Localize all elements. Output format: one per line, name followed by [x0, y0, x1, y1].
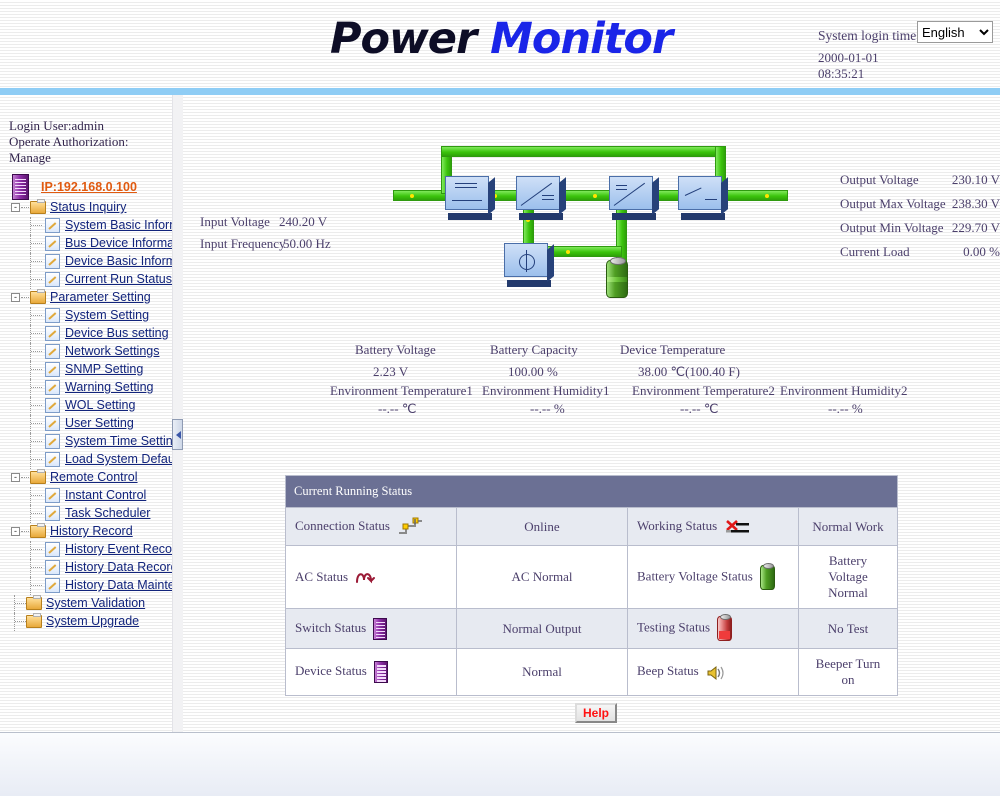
tree-item-label: System Upgrade — [46, 614, 172, 628]
status-left-label: Switch Status — [295, 619, 366, 634]
tree-item-instant-control[interactable]: Instant Control — [0, 487, 172, 505]
output-value-2: 229.70 V — [938, 220, 1000, 236]
bypass-top — [441, 146, 726, 157]
output-label-0: Output Voltage — [840, 172, 919, 188]
environment-label-1: Environment Humidity1 — [482, 383, 609, 399]
page-icon — [45, 542, 60, 557]
tree-item-label: Instant Control — [65, 488, 172, 502]
page-icon — [45, 254, 60, 269]
folder-icon — [30, 471, 46, 484]
output-value-0: 230.10 V — [938, 172, 1000, 188]
tree-item-history-data-record[interactable]: History Data Record — [0, 559, 172, 577]
status-right-label-cell: Beep Status — [628, 649, 799, 696]
tree-connector — [30, 577, 44, 595]
tree-item-label: History Data Record — [65, 560, 172, 574]
environment-value-3: --.-- % — [828, 401, 863, 417]
tree-item-label: SNMP Setting — [65, 362, 172, 376]
tree-item-system-time-setting[interactable]: System Time Setting — [0, 433, 172, 451]
tree-item-system-validation[interactable]: System Validation — [0, 595, 172, 613]
battery-reading-label-1: Battery Capacity — [490, 342, 578, 358]
status-left-label: Device Status — [295, 663, 367, 678]
battery-reading-label-2: Device Temperature — [620, 342, 725, 358]
tree-item-label: WOL Setting — [65, 398, 172, 412]
help-button[interactable]: Help — [575, 703, 617, 723]
table-row: Device StatusNormalBeep StatusBeeper Tur… — [286, 649, 898, 696]
chevron-left-icon — [176, 431, 181, 439]
authorization-label: Operate Authorization: — [9, 134, 129, 150]
page-icon — [45, 380, 60, 395]
tree-item-label: Load System Default — [65, 452, 172, 466]
tree-item-system-setting[interactable]: System Setting — [0, 307, 172, 325]
tree-item-parameter-setting[interactable]: -Parameter Setting — [0, 289, 172, 307]
page-icon — [45, 434, 60, 449]
page-footer — [0, 732, 1000, 796]
output-label-3: Current Load — [840, 244, 910, 260]
status-right-value: No Test — [799, 609, 898, 649]
tree-connector — [30, 397, 44, 415]
tree-connector — [30, 451, 44, 469]
tree-item-label: Status Inquiry — [50, 200, 170, 214]
tree-item-device-basic-information[interactable]: Device Basic Information — [0, 253, 172, 271]
table-row: AC StatusAC NormalBattery Voltage Status… — [286, 546, 898, 609]
tree-item-load-system-default[interactable]: Load System Default — [0, 451, 172, 469]
tree-item-label: Device Bus setting — [65, 326, 172, 340]
tree-connector — [30, 541, 44, 559]
environment-value-0: --.-- ℃ — [378, 401, 416, 417]
table-caption-row: Current Running Status — [286, 476, 898, 508]
tree-connector — [21, 297, 29, 299]
tree-item-task-scheduler[interactable]: Task Scheduler — [0, 505, 172, 523]
status-left-label: Connection Status — [295, 517, 390, 532]
page-title-part2: Monitor — [490, 14, 672, 64]
folder-icon — [30, 201, 46, 214]
tree-item-label: History Record — [50, 524, 170, 538]
sidebar: Login User:admin Operate Authorization: … — [0, 95, 172, 732]
tree-connector — [21, 207, 29, 209]
environment-label-2: Environment Temperature2 — [632, 383, 775, 399]
device-rectifier-icon — [445, 176, 489, 210]
tree-expander-icon[interactable]: - — [11, 527, 20, 536]
folder-icon — [26, 615, 42, 628]
login-date: 2000-01-01 — [818, 50, 879, 66]
output-value-3: 0.00 % — [938, 244, 1000, 260]
tree-item-label: System Setting — [65, 308, 172, 322]
environment-label-0: Environment Temperature1 — [330, 383, 473, 399]
page-icon — [45, 308, 60, 323]
device-switch-icon — [678, 176, 722, 210]
rack-icon — [374, 661, 388, 683]
output-label-2: Output Min Voltage — [840, 220, 944, 236]
power-flow-diagram — [393, 140, 788, 305]
device-converter-icon — [609, 176, 653, 210]
speaker-icon — [706, 665, 726, 681]
tree-item-label: Device Basic Information — [65, 254, 172, 268]
tree-connector — [30, 235, 44, 253]
tree-expander-icon[interactable]: - — [11, 203, 20, 212]
status-right-label: Testing Status — [637, 619, 710, 634]
device-inverter-icon — [516, 176, 560, 210]
device-ip-link[interactable]: IP:192.168.0.100 — [41, 180, 137, 194]
user-info-block: Login User:admin Operate Authorization: … — [0, 118, 129, 166]
status-left-value: Normal Output — [457, 609, 628, 649]
tree-item-label: Bus Device Information — [65, 236, 172, 250]
language-select[interactable]: English — [917, 21, 993, 43]
page-icon — [45, 272, 60, 287]
login-time-label: System login time — [818, 28, 916, 44]
status-left-value: AC Normal — [457, 546, 628, 609]
tree-connector — [30, 415, 44, 433]
folder-icon — [30, 525, 46, 538]
tree-connector — [30, 343, 44, 361]
status-right-label: Battery Voltage Status — [637, 568, 753, 583]
environment-value-2: --.-- ℃ — [680, 401, 718, 417]
table-row: Switch StatusNormal OutputTesting Status… — [286, 609, 898, 649]
sidebar-collapse-button[interactable] — [172, 419, 183, 450]
tree-item-snmp-setting[interactable]: SNMP Setting — [0, 361, 172, 379]
status-right-label: Beep Status — [637, 663, 699, 678]
tree-item-wol-setting[interactable]: WOL Setting — [0, 397, 172, 415]
tree-item-device-bus-setting[interactable]: Device Bus setting — [0, 325, 172, 343]
main-content: Input Voltage 240.20 V Input Frequency 5… — [183, 95, 1000, 732]
tree-item-label: System Basic Information — [65, 218, 172, 232]
input-frequency-value: 50.00 Hz — [283, 236, 331, 252]
battery-reading-value-2: 38.00 ℃(100.40 F) — [638, 364, 740, 380]
table-caption: Current Running Status — [286, 476, 898, 508]
tree-item-user-setting[interactable]: User Setting — [0, 415, 172, 433]
tree-item-label: History Event Record — [65, 542, 172, 556]
output-label-1: Output Max Voltage — [840, 196, 946, 212]
page-icon — [45, 416, 60, 431]
status-right-value: Battery Voltage Normal — [799, 546, 898, 609]
tree-item-system-upgrade[interactable]: System Upgrade — [0, 613, 172, 631]
page-icon — [45, 344, 60, 359]
tree-item-bus-device-information[interactable]: Bus Device Information — [0, 235, 172, 253]
navigation-tree: -Status InquirySystem Basic InformationB… — [0, 199, 172, 631]
tree-item-label: Remote Control — [50, 470, 170, 484]
environment-label-3: Environment Humidity2 — [780, 383, 907, 399]
authorization-value: Manage — [9, 150, 129, 166]
tree-connector — [30, 271, 44, 289]
tree-item-history-record[interactable]: -History Record — [0, 523, 172, 541]
page-icon — [45, 506, 60, 521]
tree-item-network-settings[interactable]: Network Settings — [0, 343, 172, 361]
status-right-label-cell: Battery Voltage Status — [628, 546, 799, 609]
page-icon — [45, 236, 60, 251]
folder-icon — [30, 291, 46, 304]
connection-icon — [397, 517, 423, 537]
tree-expander-icon[interactable]: - — [11, 293, 20, 302]
device-charger-icon — [504, 243, 548, 277]
environment-value-1: --.-- % — [530, 401, 565, 417]
tree-connector — [30, 325, 44, 343]
tree-connector — [21, 477, 29, 479]
input-voltage-label: Input Voltage — [200, 214, 270, 230]
tree-connector — [30, 307, 44, 325]
page-icon — [45, 326, 60, 341]
battery-green-icon — [760, 565, 775, 590]
folder-icon — [26, 597, 42, 610]
status-right-label: Working Status — [637, 518, 717, 533]
tree-connector — [30, 505, 44, 523]
tree-item-label: Parameter Setting — [50, 290, 170, 304]
tree-item-label: System Validation — [46, 596, 172, 610]
tree-item-label: User Setting — [65, 416, 172, 430]
status-left-label: AC Status — [295, 569, 348, 584]
login-clock: 08:35:21 — [818, 66, 864, 82]
status-left-label-cell: Device Status — [286, 649, 457, 696]
tree-item-warning-setting[interactable]: Warning Setting — [0, 379, 172, 397]
table-row: Connection StatusOnlineWorking StatusNor… — [286, 508, 898, 546]
tree-connector — [30, 253, 44, 271]
page-icon — [45, 218, 60, 233]
page-icon — [45, 488, 60, 503]
tree-connector — [21, 531, 29, 533]
working-x-icon — [724, 519, 750, 535]
status-right-label-cell: Testing Status — [628, 609, 799, 649]
login-user-label: Login User:admin — [9, 118, 129, 134]
status-right-label-cell: Working Status — [628, 508, 799, 546]
status-left-label-cell: AC Status — [286, 546, 457, 609]
tree-item-label: System Time Setting — [65, 434, 172, 448]
tree-item-label: Task Scheduler — [65, 506, 172, 520]
status-left-label-cell: Switch Status — [286, 609, 457, 649]
tree-item-label: History Data Maintenance — [65, 578, 172, 592]
tree-item-label: Current Run Status — [65, 272, 172, 286]
battery-reading-value-0: 2.23 V — [373, 364, 408, 380]
page-icon — [45, 398, 60, 413]
tree-item-label: Warning Setting — [65, 380, 172, 394]
tree-item-history-event-record[interactable]: History Event Record — [0, 541, 172, 559]
battery-red-icon — [717, 616, 732, 641]
page-icon — [45, 362, 60, 377]
input-voltage-value: 240.20 V — [279, 214, 327, 230]
page-title-part1: Power — [330, 14, 476, 64]
page-icon — [45, 560, 60, 575]
tree-expander-icon[interactable]: - — [11, 473, 20, 482]
page-title: Power Monitor — [330, 14, 672, 64]
battery-reading-label-0: Battery Voltage — [355, 342, 436, 358]
current-running-status-table: Current Running StatusConnection StatusO… — [285, 475, 898, 696]
status-left-label-cell: Connection Status — [286, 508, 457, 546]
tree-connector — [30, 559, 44, 577]
status-right-value: Beeper Turn on — [799, 649, 898, 696]
tree-connector — [30, 487, 44, 505]
page-icon — [45, 452, 60, 467]
tree-connector — [30, 379, 44, 397]
tree-connector — [30, 361, 44, 379]
page-header: Power Monitor System login time 2000-01-… — [0, 0, 1000, 88]
battery-reading-value-1: 100.00 % — [508, 364, 558, 380]
tree-connector — [30, 217, 44, 235]
tree-item-history-data-maintenance[interactable]: History Data Maintenance — [0, 577, 172, 595]
output-value-1: 238.30 V — [938, 196, 1000, 212]
rack-icon — [373, 618, 387, 640]
header-divider — [0, 88, 1000, 95]
page-icon — [45, 578, 60, 593]
tree-item-current-run-status[interactable]: Current Run Status — [0, 271, 172, 289]
tree-item-remote-control[interactable]: -Remote Control — [0, 469, 172, 487]
status-right-value: Normal Work — [799, 508, 898, 546]
input-frequency-label: Input Frequency — [200, 236, 286, 252]
status-left-value: Normal — [457, 649, 628, 696]
tree-connector — [30, 433, 44, 451]
battery-icon — [606, 260, 628, 298]
tree-item-system-basic-information[interactable]: System Basic Information — [0, 217, 172, 235]
ac-wave-icon — [355, 570, 377, 585]
tree-item-status-inquiry[interactable]: -Status Inquiry — [0, 199, 172, 217]
tree-item-label: Network Settings — [65, 344, 172, 358]
status-left-value: Online — [457, 508, 628, 546]
